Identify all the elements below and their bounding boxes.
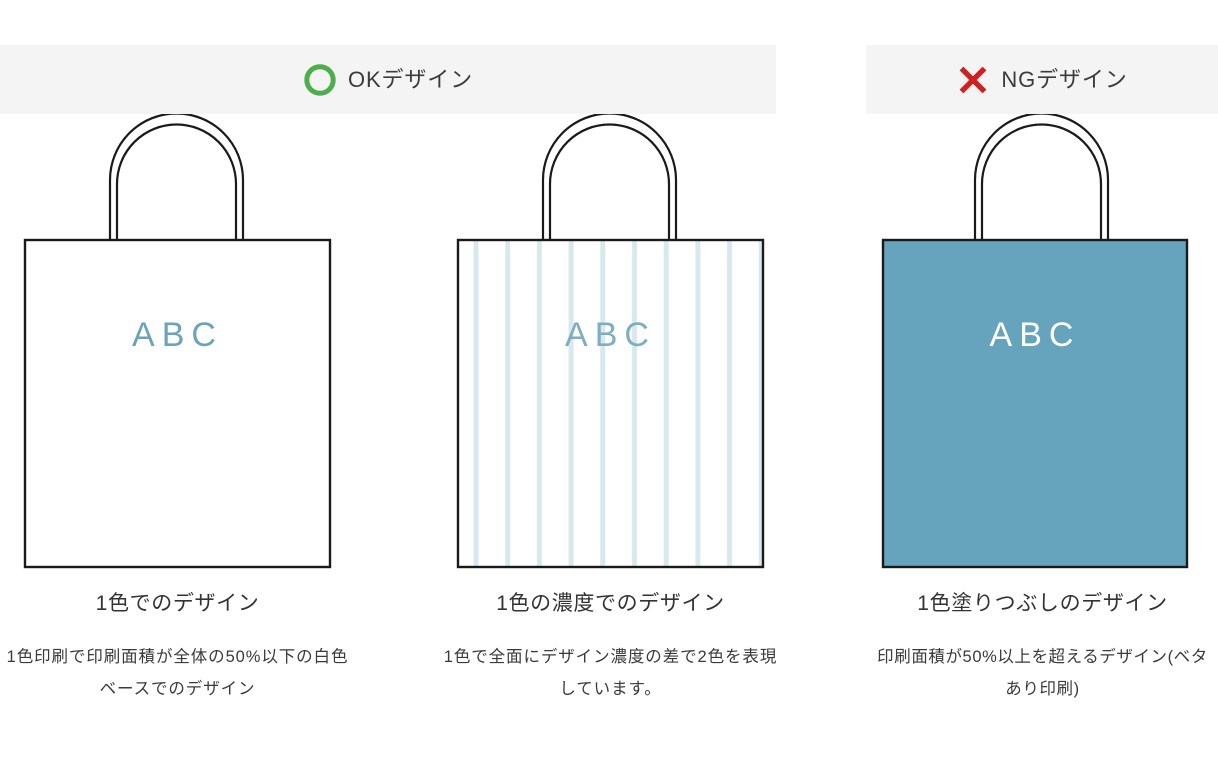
bag-handle-inner — [550, 125, 669, 242]
bag-print-text: ABC — [990, 316, 1081, 354]
bag-illustration-one-color-solid: ABC — [865, 114, 1218, 579]
header-ok-label: OKデザイン — [348, 69, 473, 91]
bag-description-one-color: 1色印刷で印刷面積が全体の50%以下の白色ベースでのデザイン — [0, 641, 355, 705]
header-ng-label: NGデザイン — [1001, 69, 1127, 91]
header-row: OKデザイン NGデザイン — [0, 45, 1218, 114]
bag-title-one-color: 1色でのデザイン — [0, 591, 355, 616]
bag-print-text: ABC — [565, 316, 656, 354]
bag-card-one-color-density: ABC 1色の濃度でのデザイン 1色で全面にデザイン濃度の差で2色を表現していま… — [433, 114, 788, 762]
cross-ng-icon — [956, 63, 990, 97]
bag-handle-outer — [110, 114, 243, 241]
bag-handle-outer — [975, 114, 1108, 241]
bag-illustration-one-color: ABC — [0, 114, 355, 579]
bag-description-one-color-density: 1色で全面にデザイン濃度の差で2色を表現しています。 — [433, 641, 788, 705]
bag-stripe-pattern — [458, 240, 763, 567]
bag-handle-inner — [117, 125, 236, 242]
bag-illustration-one-color-density: ABC — [433, 114, 788, 579]
header-ng-design: NGデザイン — [866, 45, 1218, 114]
bag-body — [25, 240, 330, 567]
bag-print-text: ABC — [132, 316, 223, 354]
bag-handle-inner — [982, 125, 1101, 242]
bag-columns: ABC 1色でのデザイン 1色印刷で印刷面積が全体の50%以下の白色ベースでのデ… — [0, 114, 1218, 762]
bag-card-one-color: ABC 1色でのデザイン 1色印刷で印刷面積が全体の50%以下の白色ベースでのデ… — [0, 114, 355, 762]
header-ok-design: OKデザイン — [0, 45, 776, 114]
circle-ok-icon — [303, 63, 337, 97]
bag-description-one-color-solid: 印刷面積が50%以上を超えるデザイン(ベタあり印刷) — [865, 641, 1218, 705]
design-guideline-board: OKデザイン NGデザイン — [0, 0, 1218, 762]
bag-body — [883, 240, 1187, 567]
bag-title-one-color-density: 1色の濃度でのデザイン — [433, 591, 788, 616]
bag-title-one-color-solid: 1色塗りつぶしのデザイン — [865, 591, 1218, 616]
bag-card-one-color-solid: ABC 1色塗りつぶしのデザイン 印刷面積が50%以上を超えるデザイン(ベタあり… — [865, 114, 1218, 762]
bag-handle-outer — [543, 114, 676, 241]
